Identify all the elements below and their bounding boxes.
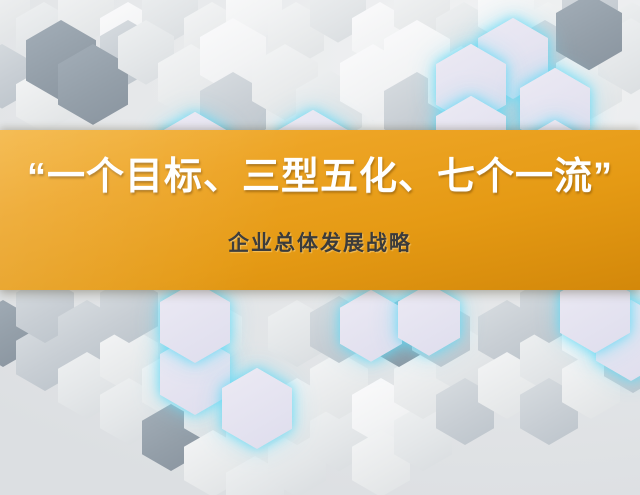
glowing-hexagon bbox=[222, 368, 292, 449]
glowing-hexagon bbox=[398, 284, 460, 356]
page-subtitle: 企业总体发展战略 bbox=[0, 230, 640, 258]
page-title: “一个目标、三型五化、七个一流” bbox=[0, 152, 640, 202]
hexagon-ring bbox=[398, 284, 460, 356]
slide-canvas: “一个目标、三型五化、七个一流” 企业总体发展战略 bbox=[0, 0, 640, 495]
glowing-hexagon bbox=[340, 290, 402, 362]
hexagon-ring bbox=[222, 368, 292, 449]
hexagon-ring bbox=[160, 282, 230, 363]
hexagon-ring bbox=[340, 290, 402, 362]
title-banner: “一个目标、三型五化、七个一流” 企业总体发展战略 bbox=[0, 130, 640, 290]
glowing-hexagon bbox=[160, 282, 230, 363]
